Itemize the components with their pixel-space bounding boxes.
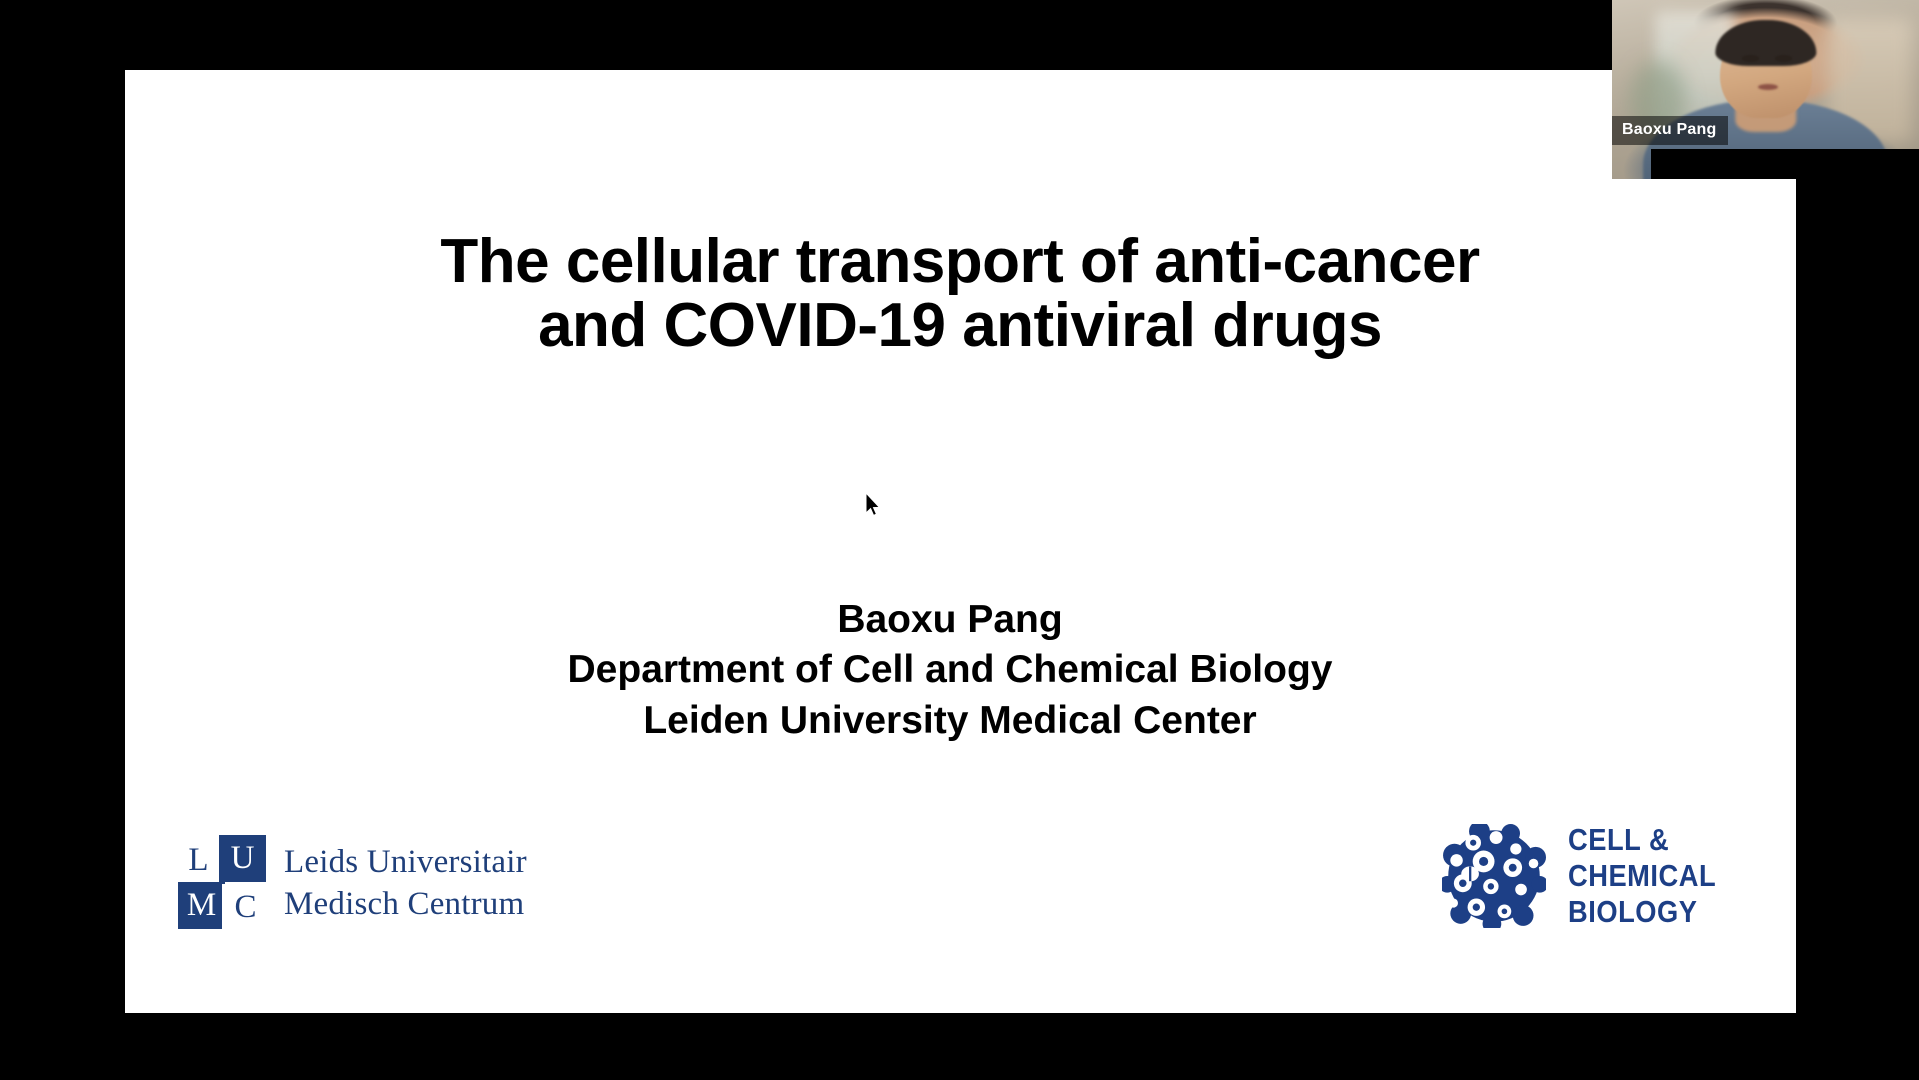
webcam-letterbox-mask [1651, 149, 1919, 179]
presentation-window: The cellular transport of anti-cancer an… [0, 0, 1919, 1080]
cell-cluster-icon [1442, 824, 1546, 928]
lumc-letter-l: L [175, 837, 222, 884]
lumc-letter-u: U [219, 835, 266, 882]
cell-chemical-biology-logo: CELL & CHEMICAL BIOLOGY [1442, 822, 1736, 930]
slide-canvas[interactable]: The cellular transport of anti-cancer an… [125, 70, 1796, 1013]
webcam-participant-tile[interactable]: Baoxu Pang [1612, 0, 1919, 179]
cell-chemical-biology-wordmark: CELL & CHEMICAL BIOLOGY [1568, 822, 1716, 930]
webcam-participant-name: Baoxu Pang [1612, 116, 1728, 145]
lumc-logo: L U M C Leids Universitair Medisch Centr… [175, 835, 527, 931]
lumc-letter-m: M [178, 882, 225, 929]
slide-subtitle: Baoxu Pang Department of Cell and Chemic… [215, 595, 1685, 746]
lumc-wordmark: Leids Universitair Medisch Centrum [284, 841, 527, 925]
webcam-person-eye-right [1775, 55, 1792, 61]
lumc-logo-mark: L U M C [175, 835, 268, 931]
slide-title: The cellular transport of anti-cancer an… [215, 230, 1705, 358]
lumc-letter-c: C [222, 884, 269, 931]
